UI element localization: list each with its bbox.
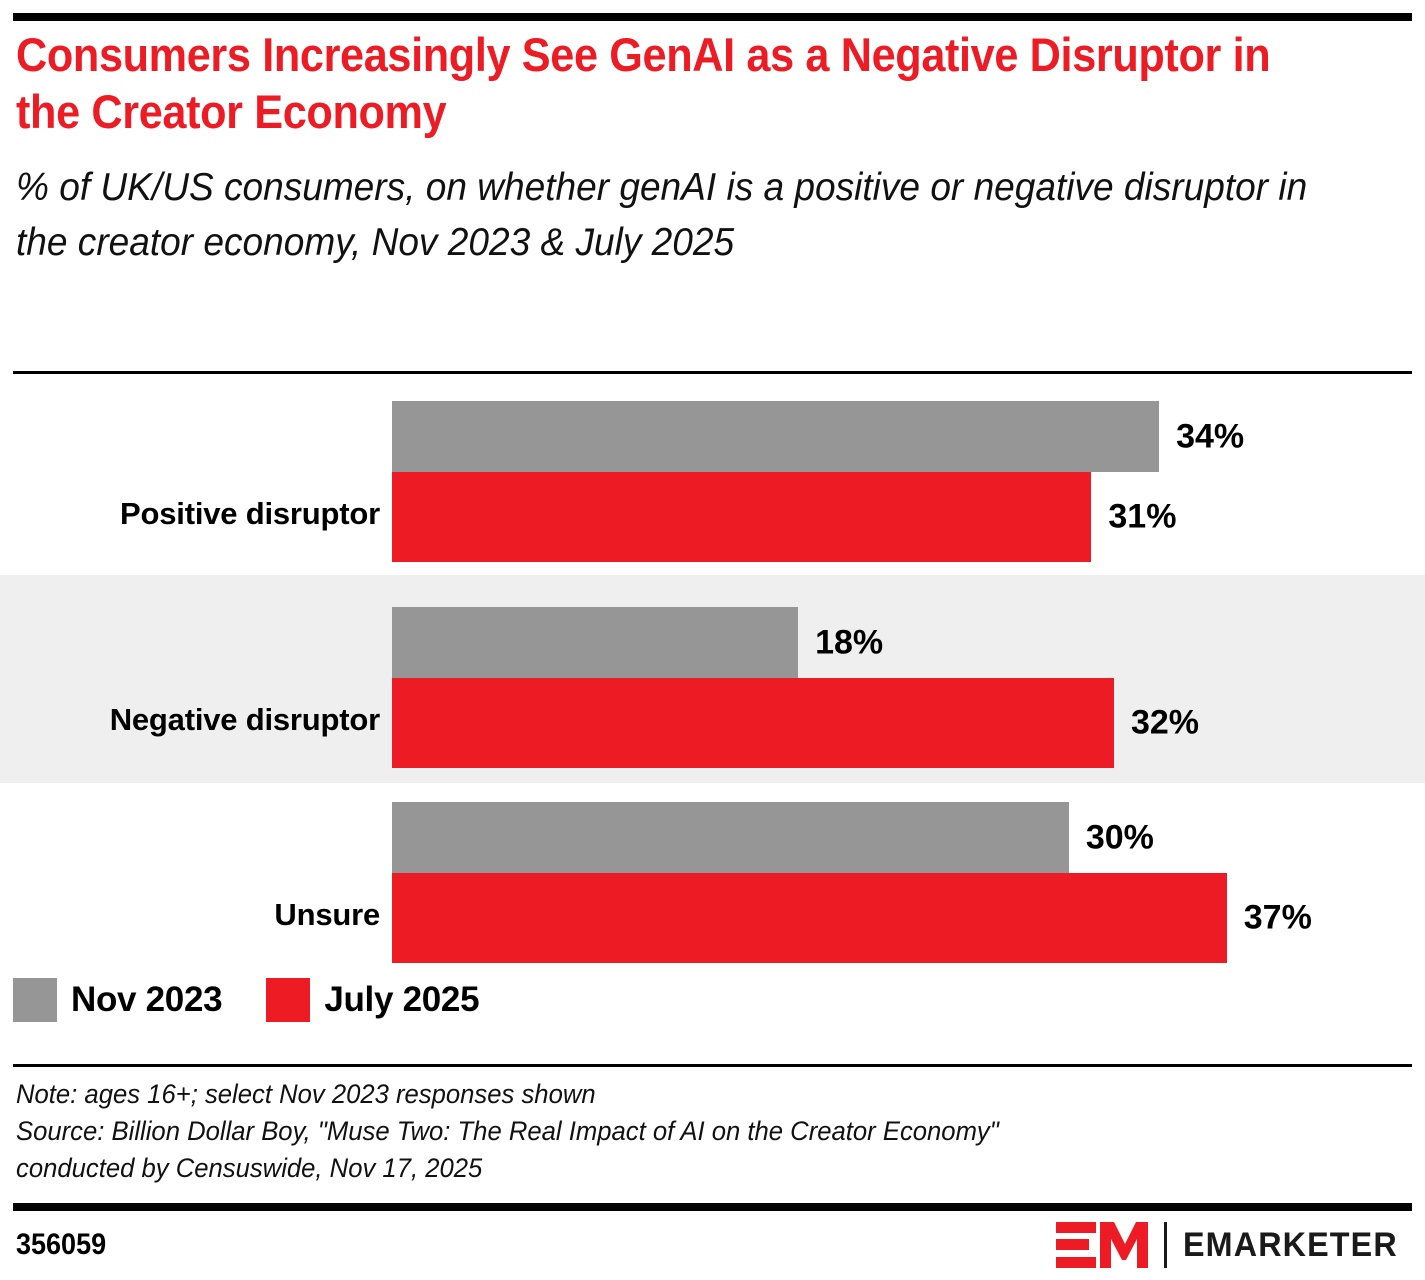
- bar-value-label: 37%: [1244, 899, 1312, 938]
- page-subtitle: % of UK/US consumers, on whether genAI i…: [16, 160, 1365, 270]
- bar-rect: [392, 401, 1159, 472]
- chart-row: Negative disruptor18%32%: [0, 575, 1425, 783]
- chart-page: Consumers Increasingly See GenAI as a Ne…: [0, 0, 1425, 1280]
- bar-july-2025: 32%: [392, 678, 1425, 768]
- bar-group: 34%31%: [392, 401, 1425, 562]
- bar-rect: [392, 678, 1114, 768]
- bar-chart: Positive disruptor34%31%Negative disrupt…: [0, 382, 1425, 952]
- bar-rect: [392, 607, 798, 678]
- brand-divider: [1164, 1222, 1167, 1268]
- category-label: Negative disruptor: [0, 702, 380, 738]
- top-rule: [13, 13, 1412, 21]
- legend-label: Nov 2023: [71, 980, 222, 1020]
- header-divider-rule: [13, 371, 1412, 374]
- bar-value-label: 30%: [1086, 818, 1154, 857]
- em-monogram-icon: [1056, 1222, 1148, 1268]
- legend-swatch: [266, 978, 310, 1022]
- bar-july-2025: 31%: [392, 472, 1425, 562]
- bar-group: 18%32%: [392, 607, 1425, 768]
- legend-label: July 2025: [324, 980, 479, 1020]
- chart-id: 356059: [16, 1228, 106, 1262]
- footnote-divider-rule: [13, 1064, 1412, 1067]
- bottom-rule: [13, 1203, 1412, 1211]
- chart-legend: Nov 2023July 2025: [13, 978, 523, 1022]
- bar-nov-2023: 30%: [392, 802, 1425, 873]
- bar-group: 30%37%: [392, 802, 1425, 963]
- bar-nov-2023: 34%: [392, 401, 1425, 472]
- note-line: Note: ages 16+; select Nov 2023 response…: [16, 1076, 1346, 1113]
- brand-name: EMARKETER: [1183, 1226, 1398, 1265]
- bar-value-label: 34%: [1176, 417, 1244, 456]
- bar-rect: [392, 802, 1069, 873]
- chart-row: Unsure30%37%: [0, 783, 1425, 968]
- chart-row: Positive disruptor34%31%: [0, 382, 1425, 575]
- legend-item[interactable]: July 2025: [266, 978, 479, 1022]
- source-line-2: conducted by Censuswide, Nov 17, 2025: [16, 1150, 1346, 1187]
- brand-logo: EMARKETER: [1056, 1222, 1409, 1268]
- source-line-1: Source: Billion Dollar Boy, "Muse Two: T…: [16, 1113, 1346, 1150]
- bar-value-label: 32%: [1131, 704, 1199, 743]
- page-title: Consumers Increasingly See GenAI as a Ne…: [16, 26, 1299, 140]
- legend-item[interactable]: Nov 2023: [13, 978, 222, 1022]
- category-label: Unsure: [0, 897, 380, 933]
- bar-rect: [392, 472, 1091, 562]
- category-label: Positive disruptor: [0, 496, 380, 532]
- bar-value-label: 18%: [815, 623, 883, 662]
- legend-swatch: [13, 978, 57, 1022]
- bar-value-label: 31%: [1108, 498, 1176, 537]
- bar-july-2025: 37%: [392, 873, 1425, 963]
- bar-rect: [392, 873, 1227, 963]
- bar-nov-2023: 18%: [392, 607, 1425, 678]
- footnotes: Note: ages 16+; select Nov 2023 response…: [16, 1076, 1346, 1187]
